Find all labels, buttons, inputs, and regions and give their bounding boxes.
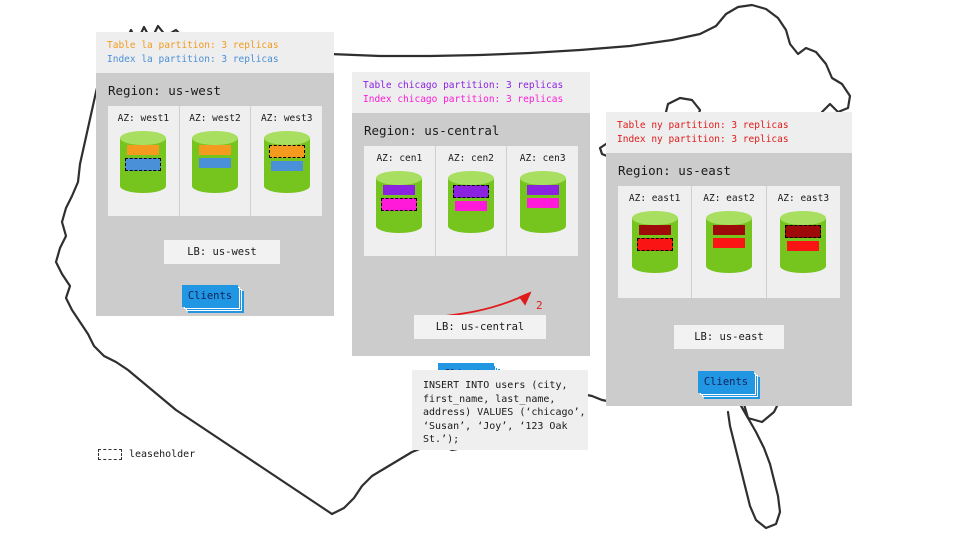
- partition-header-us-east: Table ny partition: 3 replicas Index ny …: [606, 112, 852, 153]
- legend-label: leaseholder: [129, 449, 195, 460]
- index-partition-line: Index chicago partition: 3 replicas: [363, 93, 580, 107]
- region-title: Region: us-west: [96, 73, 334, 106]
- replica-bar-index: [455, 201, 487, 211]
- index-partition-line: Index la partition: 3 replicas: [107, 53, 324, 67]
- table-partition-line: Table la partition: 3 replicas: [107, 39, 324, 53]
- table-partition-line: Table ny partition: 3 replicas: [617, 119, 842, 133]
- cylinder-top: [192, 131, 238, 145]
- replica-bar-index: [271, 161, 303, 171]
- replica-bars: [780, 225, 826, 251]
- replica-bars: [632, 225, 678, 251]
- replica-bar-table: [527, 185, 559, 195]
- replica-bar-table: [269, 145, 305, 158]
- database-cylinder[interactable]: [780, 211, 826, 273]
- partition-header-us-west: Table la partition: 3 replicas Index la …: [96, 32, 334, 73]
- partition-header-us-central: Table chicago partition: 3 replicas Inde…: [352, 72, 590, 113]
- az-east3[interactable]: AZ: east3: [767, 186, 840, 298]
- cylinder-top: [120, 131, 166, 145]
- clients-us-east[interactable]: Clients: [698, 371, 754, 393]
- sql-statement-box: INSERT INTO users (city, first_name, las…: [412, 370, 588, 450]
- load-balancer-us-west[interactable]: LB: us-west: [164, 240, 280, 264]
- az-east2[interactable]: AZ: east2: [692, 186, 766, 298]
- legend: leaseholder: [98, 449, 195, 460]
- az-west2[interactable]: AZ: west2: [180, 106, 252, 216]
- load-balancer-us-east[interactable]: LB: us-east: [674, 325, 784, 349]
- az-label: AZ: west2: [189, 113, 240, 124]
- cluster-us-west: Table la partition: 3 replicas Index la …: [96, 32, 334, 316]
- replica-bars: [264, 145, 310, 171]
- replica-bar-table: [785, 225, 821, 238]
- cylinder-top: [632, 211, 678, 225]
- arrow-label-2: 2: [536, 299, 543, 312]
- replica-bar-index: [527, 198, 559, 208]
- az-west1[interactable]: AZ: west1: [108, 106, 180, 216]
- az-row: AZ: east1 AZ: east2: [618, 186, 840, 298]
- region-panel-us-west: Region: us-west AZ: west1 A: [96, 73, 334, 316]
- diagram-canvas: Table la partition: 3 replicas Index la …: [0, 0, 960, 540]
- az-label: AZ: west3: [261, 113, 312, 124]
- database-cylinder[interactable]: [706, 211, 752, 273]
- replica-bars: [192, 145, 238, 168]
- database-cylinder[interactable]: [120, 131, 166, 193]
- az-row: AZ: west1 AZ: west2: [108, 106, 322, 216]
- dashed-rect-icon: [98, 449, 122, 460]
- replica-bars: [448, 185, 494, 211]
- replica-bars: [520, 185, 566, 208]
- index-partition-line: Index ny partition: 3 replicas: [617, 133, 842, 147]
- region-title: Region: us-east: [606, 153, 852, 186]
- replica-bar-table: [713, 225, 745, 235]
- az-west3[interactable]: AZ: west3: [251, 106, 322, 216]
- region-panel-us-east: Region: us-east AZ: east1 A: [606, 153, 852, 406]
- clients-label: Clients: [698, 371, 754, 393]
- clients-us-west[interactable]: Clients: [182, 285, 238, 307]
- region-panel-us-central: Region: us-central AZ: cen1: [352, 113, 590, 356]
- cylinder-top: [780, 211, 826, 225]
- load-balancer-us-central[interactable]: LB: us-central: [414, 315, 546, 339]
- cluster-us-central: Table chicago partition: 3 replicas Inde…: [352, 72, 590, 356]
- database-cylinder[interactable]: [264, 131, 310, 193]
- table-partition-line: Table chicago partition: 3 replicas: [363, 79, 580, 93]
- cylinder-top: [264, 131, 310, 145]
- database-cylinder[interactable]: [192, 131, 238, 193]
- replica-bar-index: [199, 158, 231, 168]
- replica-bar-index: [787, 241, 819, 251]
- clients-label: Clients: [182, 285, 238, 307]
- az-label: AZ: east3: [778, 193, 829, 204]
- az-label: AZ: east2: [703, 193, 754, 204]
- cluster-us-east: Table ny partition: 3 replicas Index ny …: [606, 112, 852, 406]
- replica-bar-table: [127, 145, 159, 155]
- replica-bar-index: [713, 238, 745, 248]
- replica-bar-index: [637, 238, 673, 251]
- replica-bar-table: [453, 185, 489, 198]
- replica-bars: [706, 225, 752, 248]
- replica-bar-table: [199, 145, 231, 155]
- replica-bar-index: [381, 198, 417, 211]
- database-cylinder[interactable]: [632, 211, 678, 273]
- az-east1[interactable]: AZ: east1: [618, 186, 692, 298]
- replica-bar-index: [125, 158, 161, 171]
- cylinder-top: [706, 211, 752, 225]
- replica-bar-table: [383, 185, 415, 195]
- az-label: AZ: west1: [118, 113, 169, 124]
- az-label: AZ: east1: [629, 193, 680, 204]
- replica-bars: [120, 145, 166, 171]
- replica-bar-table: [639, 225, 671, 235]
- replica-bars: [376, 185, 422, 211]
